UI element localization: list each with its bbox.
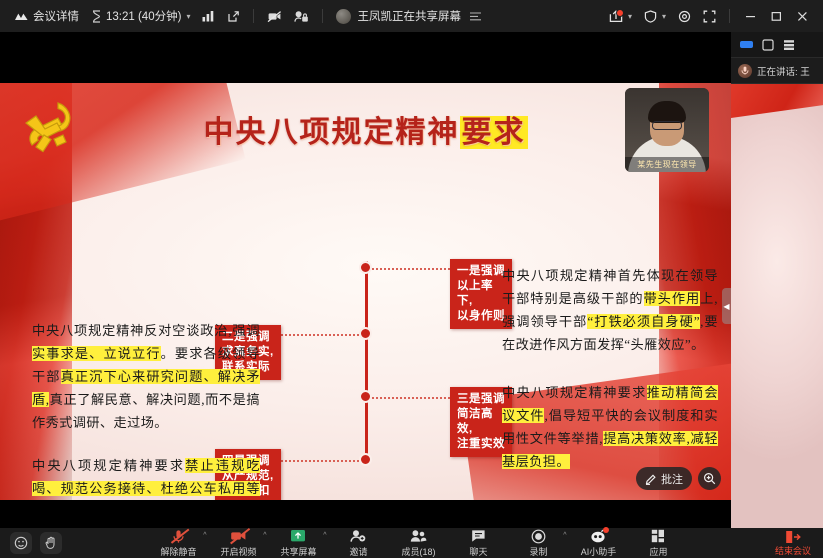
zoom-in-button[interactable] bbox=[698, 467, 721, 490]
smiley-icon bbox=[14, 536, 28, 550]
control-buttons: 解除静音 ^ 开启视频 ^ 共享屏幕 ^ bbox=[62, 529, 775, 558]
timeline-node-3 bbox=[359, 390, 372, 403]
end-meeting-label: 结束会议 bbox=[775, 544, 811, 557]
invite-person-icon bbox=[350, 529, 366, 544]
sharer-status[interactable]: 王凤凯正在共享屏幕 bbox=[330, 4, 487, 28]
chevron-up-icon[interactable]: ^ bbox=[323, 532, 326, 539]
shared-screen-stage[interactable]: 中央八项规定精神要求 一是强调以上率下,以身作则 二是强调求真务实,联系实际 三… bbox=[0, 32, 731, 528]
chat-button[interactable]: 聊天 bbox=[459, 529, 497, 558]
collapse-panel-handle[interactable]: ◀ bbox=[722, 288, 731, 324]
divider bbox=[729, 9, 730, 23]
unmute-label: 解除静音 bbox=[160, 545, 196, 558]
timeline-dash-3 bbox=[372, 397, 450, 399]
paragraph-left-top: 中央八项规定精神反对空谈政治,强调实事求是、立说立行。要求各级领导干部真正沉下心… bbox=[32, 319, 260, 434]
network-status-button[interactable] bbox=[196, 4, 221, 28]
apps-button[interactable]: 应用 bbox=[639, 529, 677, 558]
timeline-node-1 bbox=[359, 261, 372, 274]
settings-button[interactable] bbox=[672, 4, 697, 28]
pop-out-icon bbox=[227, 10, 240, 23]
ai-assistant-button[interactable]: AI小助手 bbox=[579, 529, 617, 558]
meeting-timer-label: 13:21 (40分钟) bbox=[106, 8, 181, 24]
ai-badge-dot bbox=[603, 527, 609, 533]
divider bbox=[253, 9, 254, 23]
popout-button[interactable] bbox=[221, 4, 246, 28]
ai-assistant-icon bbox=[590, 529, 607, 544]
active-speaker-bar: 正在讲话: 王 bbox=[731, 58, 823, 84]
timeline-spine bbox=[365, 261, 368, 461]
chevron-down-icon: ▾ bbox=[628, 12, 632, 21]
security-button[interactable]: ▾ bbox=[638, 4, 672, 28]
share-screen-icon bbox=[609, 10, 623, 23]
participants-label: 成员(18) bbox=[401, 545, 435, 558]
apps-grid-icon bbox=[651, 529, 665, 544]
invite-button[interactable]: 邀请 bbox=[339, 529, 377, 558]
exit-door-icon bbox=[785, 529, 801, 544]
hand-icon bbox=[44, 536, 58, 550]
apps-label: 应用 bbox=[649, 545, 667, 558]
chevron-up-icon[interactable]: ^ bbox=[263, 532, 266, 539]
top-bar: 会议详情 13:21 (40分钟) ▾ bbox=[0, 0, 823, 32]
video-person-hair bbox=[648, 101, 686, 123]
fullscreen-button[interactable] bbox=[697, 4, 722, 28]
minimize-button[interactable] bbox=[737, 4, 763, 28]
paragraph-right-bottom: 中央八项规定精神要求推动精简会议文件,倡导短平快的会议制度和实用性文件等举措,提… bbox=[502, 381, 718, 473]
chat-icon bbox=[471, 529, 486, 544]
mic-muted-icon bbox=[171, 529, 186, 544]
zoom-in-icon bbox=[703, 472, 716, 485]
mic-active-icon bbox=[738, 64, 752, 78]
gallery-view-icon[interactable] bbox=[762, 39, 774, 51]
camera-off-icon bbox=[230, 529, 247, 544]
start-video-button[interactable]: 开启视频 ^ bbox=[219, 529, 257, 558]
participant-video-thumbnail[interactable] bbox=[731, 84, 823, 528]
annotation-toolbar: 批注 bbox=[636, 467, 721, 490]
timeline-node-2 bbox=[359, 327, 372, 340]
right-video-panel: 正在讲话: 王 bbox=[731, 32, 823, 528]
meeting-details-label: 会议详情 bbox=[33, 8, 79, 24]
record-icon bbox=[531, 529, 546, 544]
fullscreen-icon bbox=[703, 10, 716, 23]
video-red-banner bbox=[731, 84, 823, 118]
slide-title-highlight: 要求 bbox=[460, 116, 528, 149]
security-shield-icon bbox=[644, 10, 657, 23]
presentation-slide: 中央八项规定精神要求 一是强调以上率下,以身作则 二是强调求真务实,联系实际 三… bbox=[0, 83, 731, 500]
ai-assistant-label: AI小助手 bbox=[581, 545, 617, 558]
chevron-left-icon: ◀ bbox=[723, 302, 729, 311]
chevron-down-icon: ▾ bbox=[662, 12, 666, 21]
recording-disabled-icon bbox=[267, 10, 282, 23]
lock-shield-icon bbox=[294, 10, 309, 23]
record-label: 录制 bbox=[529, 545, 547, 558]
paragraph-right-top: 中央八项规定精神首先体现在领导干部特别是高级干部的带头作用上,强调领导干部“打铁… bbox=[502, 264, 718, 356]
end-meeting-button[interactable]: 结束会议 bbox=[775, 529, 823, 557]
meeting-window: 会议详情 13:21 (40分钟) ▾ bbox=[0, 0, 823, 558]
divider bbox=[322, 9, 323, 23]
active-speaker-label: 正在讲话: 王 bbox=[757, 64, 810, 78]
signal-bars-icon bbox=[202, 10, 215, 22]
recording-disabled-button[interactable] bbox=[261, 4, 288, 28]
annotate-button[interactable]: 批注 bbox=[636, 467, 692, 490]
mountain-logo-icon bbox=[14, 11, 29, 22]
list-icon bbox=[470, 12, 481, 21]
timeline-dash-4 bbox=[281, 460, 359, 462]
glasses-icon bbox=[652, 121, 682, 130]
slide-title-main: 中央八项规定精神 bbox=[204, 116, 460, 149]
maximize-icon bbox=[771, 11, 782, 22]
minimize-icon bbox=[745, 11, 756, 22]
timeline-dash-1 bbox=[372, 268, 454, 270]
list-view-icon[interactable] bbox=[783, 39, 795, 51]
paragraph-left-bottom: 中央八项规定精神要求禁止违规吃喝、规范公务接待、杜绝公车私用等行为,各级党政机关… bbox=[32, 454, 260, 500]
settings-gear-icon bbox=[678, 10, 691, 23]
page-title: 中央八项规定精神要求 bbox=[0, 107, 731, 151]
layout-switcher bbox=[731, 32, 823, 58]
participants-icon bbox=[410, 529, 427, 544]
chat-label: 聊天 bbox=[469, 545, 487, 558]
share-screen-button[interactable]: 共享屏幕 ^ bbox=[279, 529, 317, 558]
speaker-view-icon[interactable] bbox=[740, 41, 753, 48]
hourglass-icon bbox=[91, 10, 102, 23]
presenter-video-tile[interactable]: 某先生现在领导 bbox=[625, 88, 709, 172]
lock-meeting-button[interactable] bbox=[288, 4, 315, 28]
video-caption: 某先生现在领导 bbox=[625, 157, 709, 172]
pen-icon bbox=[645, 473, 657, 485]
timeline-dash-2 bbox=[281, 334, 359, 336]
close-button[interactable] bbox=[789, 4, 815, 28]
raise-hand-button[interactable] bbox=[40, 532, 62, 554]
avatar bbox=[336, 9, 351, 24]
start-video-label: 开启视频 bbox=[220, 545, 256, 558]
close-icon bbox=[797, 11, 808, 22]
quick-reactions bbox=[0, 532, 62, 554]
chevron-down-icon: ▾ bbox=[186, 12, 190, 21]
share-screen-top-button[interactable]: ▾ bbox=[603, 4, 638, 28]
unmute-button[interactable]: 解除静音 ^ bbox=[159, 529, 197, 558]
annotate-label: 批注 bbox=[661, 471, 683, 487]
sharer-status-label: 王凤凯正在共享屏幕 bbox=[357, 8, 461, 24]
chevron-up-icon[interactable]: ^ bbox=[563, 532, 566, 539]
share-screen-icon bbox=[290, 529, 306, 544]
record-button[interactable]: 录制 ^ bbox=[519, 529, 557, 558]
invite-label: 邀请 bbox=[349, 545, 367, 558]
participants-button[interactable]: 成员(18) bbox=[399, 529, 437, 558]
meeting-details-button[interactable]: 会议详情 bbox=[8, 4, 85, 28]
share-screen-label: 共享屏幕 bbox=[280, 545, 316, 558]
meeting-control-bar: 解除静音 ^ 开启视频 ^ 共享屏幕 ^ bbox=[0, 528, 823, 558]
timeline-node-4 bbox=[359, 453, 372, 466]
maximize-button[interactable] bbox=[763, 4, 789, 28]
emoji-reaction-button[interactable] bbox=[10, 532, 32, 554]
meeting-timer[interactable]: 13:21 (40分钟) ▾ bbox=[85, 4, 196, 28]
chevron-up-icon[interactable]: ^ bbox=[203, 532, 206, 539]
